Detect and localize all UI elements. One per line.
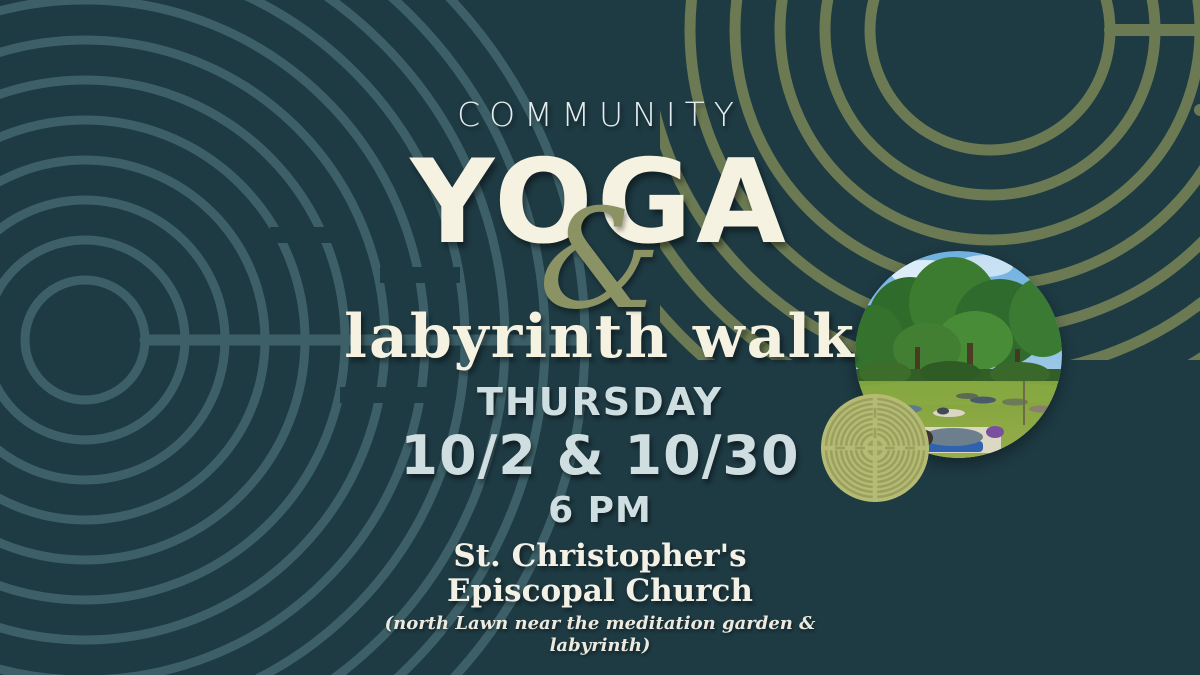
event-time: 6 PM [548, 493, 652, 529]
location-note: (north Lawn near the meditation garden &… [380, 613, 820, 656]
event-poster: COMMUNITY YOGA & labyrinth walk THURSDAY… [0, 0, 1200, 675]
event-day: THURSDAY [477, 383, 723, 421]
venue-name: St. Christopher's Episcopal Church [447, 539, 753, 608]
venue-line-1: St. Christopher's [447, 539, 753, 574]
kicker-community: COMMUNITY [457, 98, 743, 131]
ampersand-glyph: & [539, 191, 662, 329]
event-dates: 10/2 & 10/30 [400, 429, 799, 483]
title-group: YOGA & [340, 145, 860, 257]
venue-line-2: Episcopal Church [447, 574, 753, 609]
poster-text-stack: COMMUNITY YOGA & labyrinth walk THURSDAY… [0, 0, 1200, 675]
